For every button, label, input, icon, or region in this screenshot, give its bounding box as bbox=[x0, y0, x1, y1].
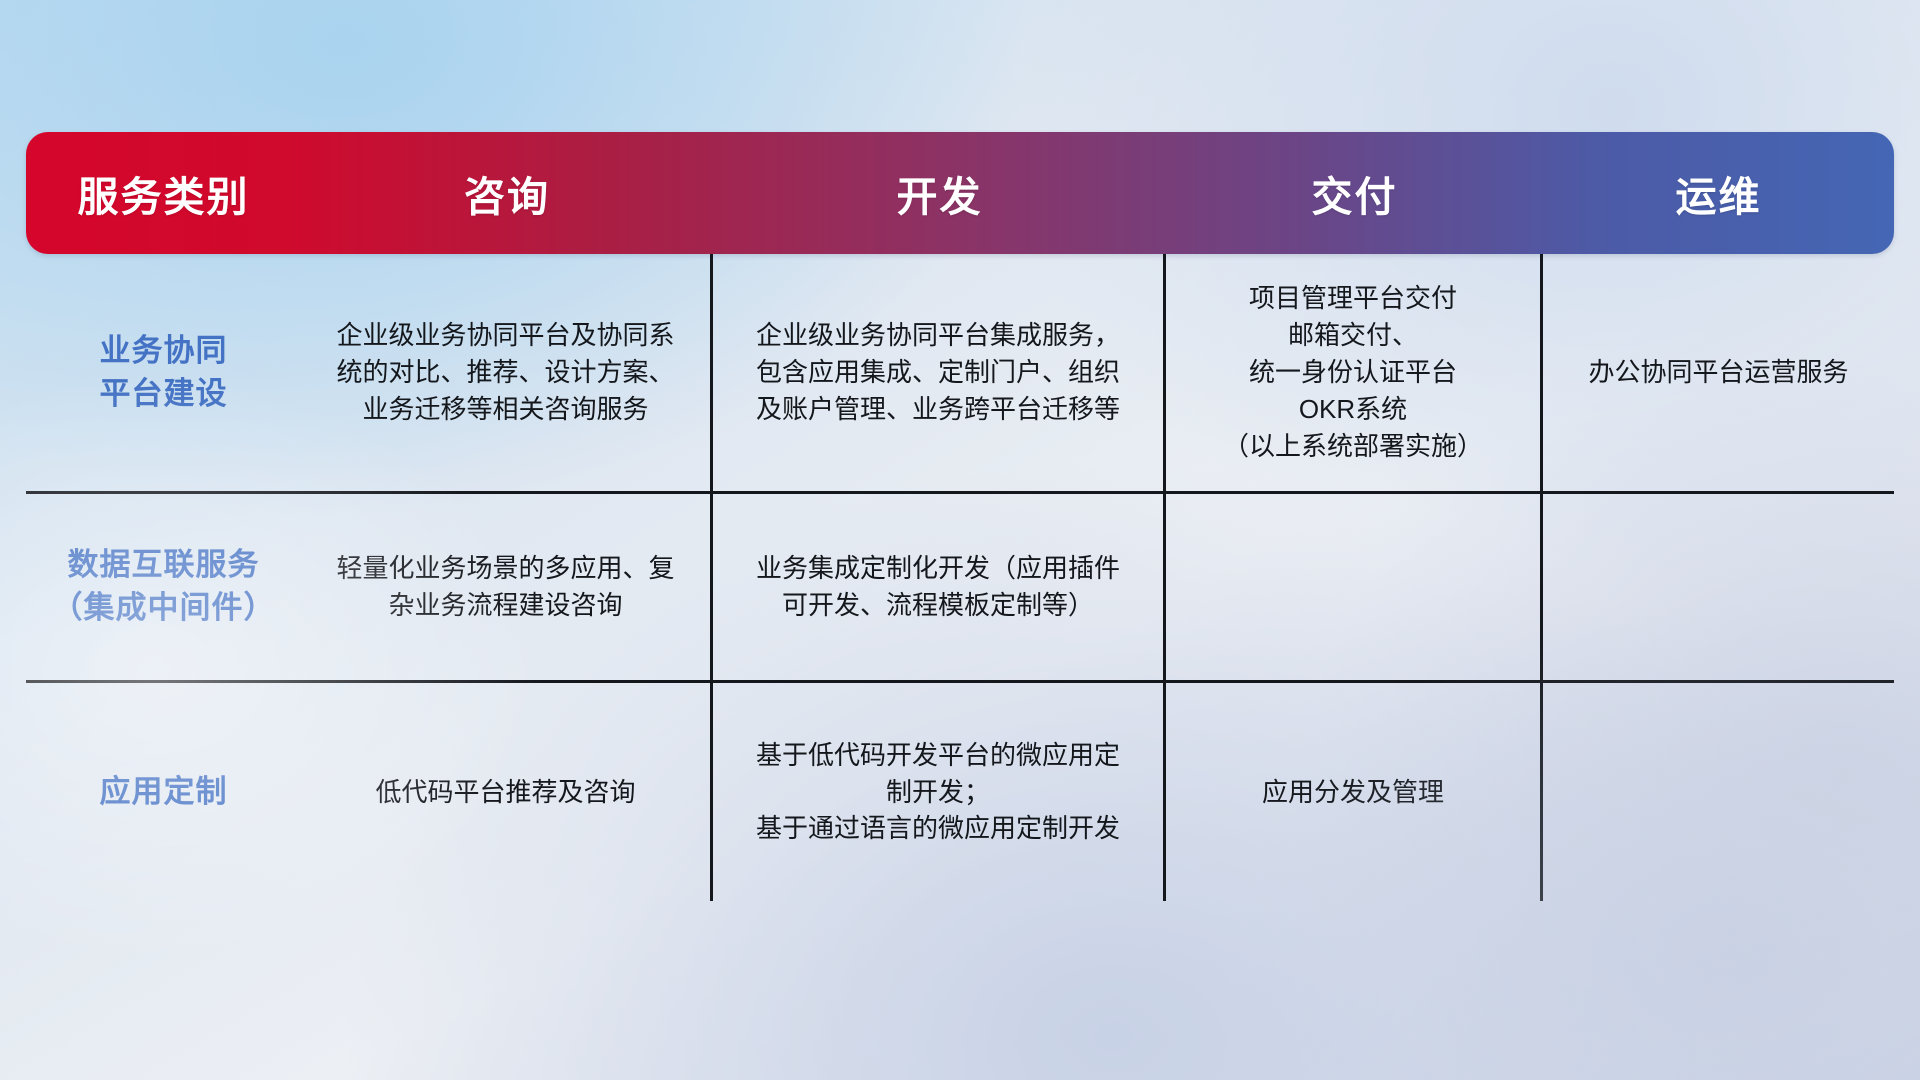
table-header-bar: 服务类别 咨询 开发 交付 运维 bbox=[26, 132, 1894, 254]
header-cell-development: 开发 bbox=[713, 132, 1166, 254]
row-development-cell: 基于低代码开发平台的微应用定 制开发； 基于通过语言的微应用定制开发 bbox=[713, 683, 1166, 901]
header-cell-service-category: 服务类别 bbox=[26, 132, 301, 254]
row-operations-cell bbox=[1543, 683, 1894, 901]
row-operations-cell: 办公协同平台运营服务 bbox=[1543, 254, 1894, 491]
header-cell-delivery: 交付 bbox=[1166, 132, 1543, 254]
row-delivery-cell bbox=[1166, 494, 1543, 680]
table-row: 数据互联服务 （集成中间件） 轻量化业务场景的多应用、复 杂业务流程建设咨询 业… bbox=[26, 491, 1894, 680]
slide-canvas: 服务类别 咨询 开发 交付 运维 业务协同 平台建设 企业级业务协同平台及协同系… bbox=[0, 0, 1920, 1080]
header-cell-operations: 运维 bbox=[1543, 132, 1894, 254]
row-consulting-cell: 轻量化业务场景的多应用、复 杂业务流程建设咨询 bbox=[301, 494, 713, 680]
row-category-cell: 业务协同 平台建设 bbox=[26, 254, 301, 491]
header-label-consulting: 咨询 bbox=[464, 163, 550, 223]
row-delivery-cell: 项目管理平台交付 邮箱交付、 统一身份认证平台 OKR系统 （以上系统部署实施） bbox=[1166, 254, 1543, 491]
table-body: 业务协同 平台建设 企业级业务协同平台及协同系 统的对比、推荐、设计方案、 业务… bbox=[26, 254, 1894, 901]
row-development-cell: 业务集成定制化开发（应用插件 可开发、流程模板定制等） bbox=[713, 494, 1166, 680]
header-label-operations: 运维 bbox=[1676, 163, 1762, 223]
table-row: 应用定制 低代码平台推荐及咨询 基于低代码开发平台的微应用定 制开发； 基于通过… bbox=[26, 680, 1894, 901]
header-label-delivery: 交付 bbox=[1312, 163, 1398, 223]
service-matrix-table: 服务类别 咨询 开发 交付 运维 业务协同 平台建设 企业级业务协同平台及协同系… bbox=[26, 132, 1894, 901]
row-consulting-cell: 低代码平台推荐及咨询 bbox=[301, 683, 713, 901]
row-development-cell: 企业级业务协同平台集成服务， 包含应用集成、定制门户、组织 及账户管理、业务跨平… bbox=[713, 254, 1166, 491]
header-label-development: 开发 bbox=[897, 163, 983, 223]
row-category-cell: 数据互联服务 （集成中间件） bbox=[26, 494, 301, 680]
row-operations-cell bbox=[1543, 494, 1894, 680]
row-category-cell: 应用定制 bbox=[26, 683, 301, 901]
header-cell-consulting: 咨询 bbox=[301, 132, 713, 254]
table-row: 业务协同 平台建设 企业级业务协同平台及协同系 统的对比、推荐、设计方案、 业务… bbox=[26, 254, 1894, 491]
row-consulting-cell: 企业级业务协同平台及协同系 统的对比、推荐、设计方案、 业务迁移等相关咨询服务 bbox=[301, 254, 713, 491]
row-delivery-cell: 应用分发及管理 bbox=[1166, 683, 1543, 901]
header-label-service-category: 服务类别 bbox=[78, 163, 250, 223]
